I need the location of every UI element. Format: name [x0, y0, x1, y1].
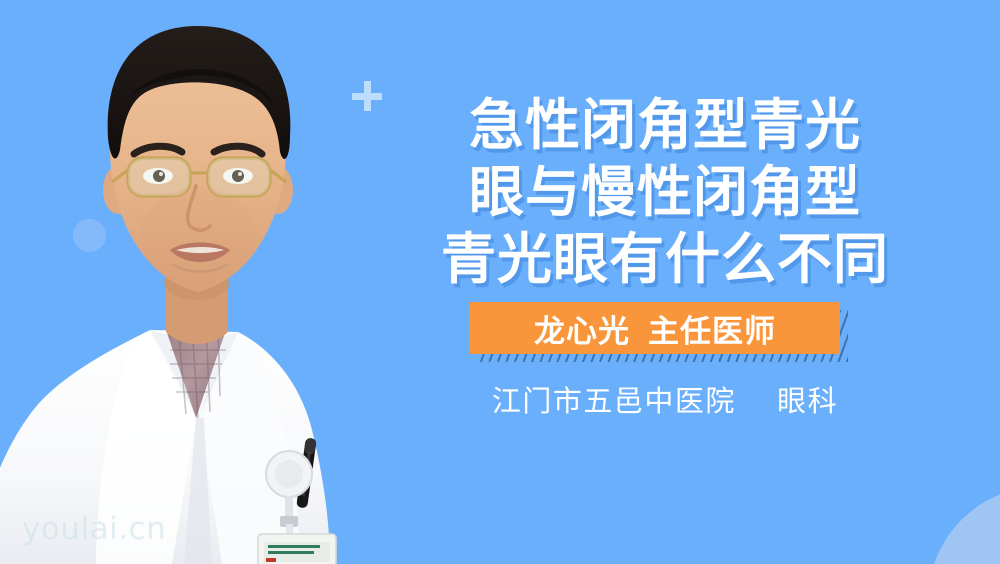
badge-body: 龙心光 主任医师	[470, 302, 840, 354]
title-line-2: 眼与慢性闭角型	[415, 159, 915, 226]
department-name: 眼科	[777, 386, 838, 418]
title-line-3: 青光眼有什么不同	[415, 226, 915, 293]
hospital-name: 江门市五邑中医院	[492, 386, 736, 418]
doctor-title: 主任医师	[648, 306, 776, 351]
page-title: 急性闭角型青光 眼与慢性闭角型 青光眼有什么不同	[415, 92, 915, 293]
title-line-1: 急性闭角型青光	[415, 92, 915, 159]
affiliation-line: 江门市五邑中医院 眼科	[415, 378, 915, 420]
video-thumbnail-canvas: youlai.cn 急性闭角型青光 眼与慢性闭角型 青光眼有什么不同 龙心光 主…	[0, 0, 1000, 564]
doctor-credential-badge: 龙心光 主任医师	[470, 302, 840, 354]
doctor-portrait	[0, 0, 430, 564]
doctor-name: 龙心光	[534, 306, 630, 351]
